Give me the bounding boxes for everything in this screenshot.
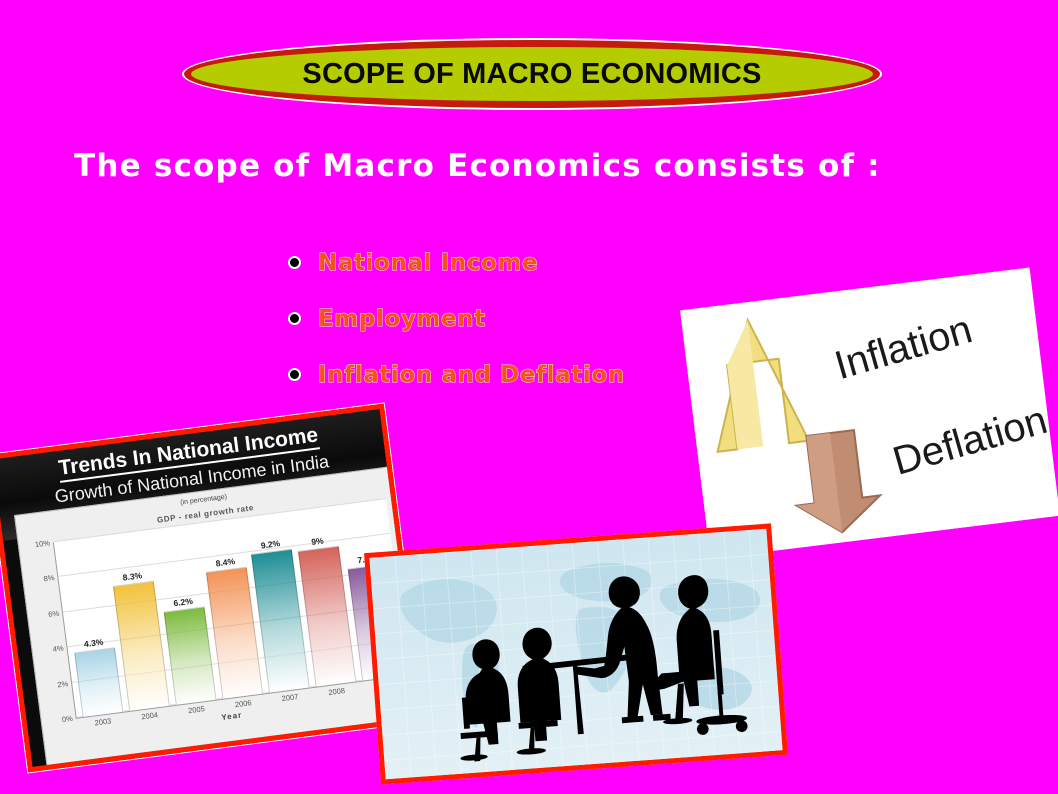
slide-canvas: SCOPE OF MACRO ECONOMICS The scope of Ma… xyxy=(0,0,1058,794)
list-item: National Income xyxy=(290,248,625,277)
chart-bar-value-label: 9% xyxy=(311,536,324,548)
employment-image xyxy=(364,523,788,784)
subtitle-text: The scope of Macro Economics consists of… xyxy=(74,148,881,184)
chart-bar-value-label: 8.3% xyxy=(122,570,143,582)
bullet-list: National Income Employment Inflation and… xyxy=(290,248,625,416)
chart-y-tick-label: 0% xyxy=(61,714,73,724)
chart-bar-value-label: 9.2% xyxy=(260,538,281,550)
inflation-deflation-illustration: Inflation Deflation xyxy=(680,267,1058,558)
bullet-dot-icon xyxy=(290,258,299,267)
page-title: SCOPE OF MACRO ECONOMICS xyxy=(302,58,761,91)
bullet-label-inflation-deflation: Inflation and Deflation xyxy=(318,362,625,388)
chart-y-tick-label: 2% xyxy=(57,679,69,689)
chart-y-tick-label: 10% xyxy=(34,538,50,549)
list-item: Employment xyxy=(290,304,625,333)
chart-bar-value-label: 6.2% xyxy=(173,595,194,607)
chart-bar-value-label: 8.4% xyxy=(215,556,236,568)
bullet-label-employment: Employment xyxy=(318,306,486,332)
bullet-dot-icon xyxy=(290,370,299,379)
chart-bar xyxy=(164,606,217,705)
chart-y-tick-label: 4% xyxy=(52,644,64,654)
bullet-label-national-income: National Income xyxy=(318,250,538,276)
inflation-deflation-image: Inflation Deflation xyxy=(680,267,1058,558)
title-ellipse: SCOPE OF MACRO ECONOMICS xyxy=(184,40,880,108)
chart-plot-panel: (in percentage) GDP - real growth rate 0… xyxy=(14,466,425,772)
list-item: Inflation and Deflation xyxy=(290,360,625,389)
national-income-chart-image: Trends In National Income Growth of Nati… xyxy=(0,404,425,773)
chart-bar-value-label: 4.3% xyxy=(83,636,104,648)
chart-y-tick-label: 8% xyxy=(43,573,55,583)
bullet-dot-icon xyxy=(290,314,299,323)
chart-bar xyxy=(74,647,123,717)
chart-y-tick-label: 6% xyxy=(48,608,60,618)
business-meeting-illustration xyxy=(369,529,782,784)
